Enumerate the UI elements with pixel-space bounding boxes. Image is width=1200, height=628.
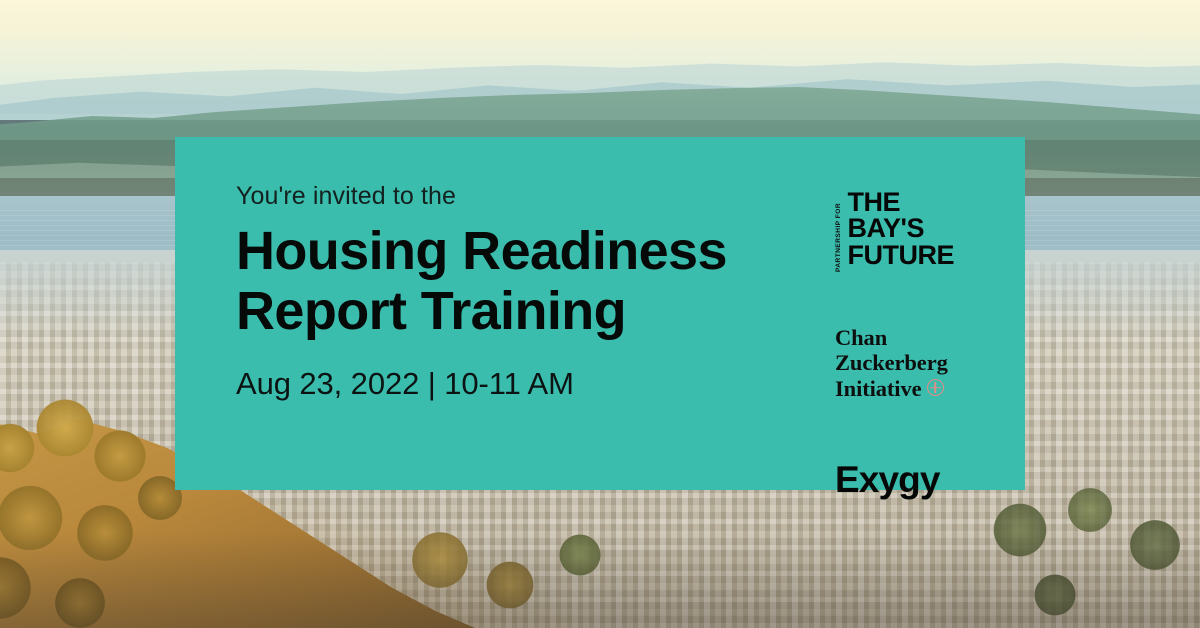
logo-chan-zuckerberg-initiative: Chan Zuckerberg Initiative: [835, 299, 1015, 427]
partner-logo-stack: PARTNERSHIP FOR THE BAY'S FUTURE Chan Zu…: [835, 189, 1015, 498]
logo-the-bays-future: PARTNERSHIP FOR THE BAY'S FUTURE: [835, 189, 1015, 275]
event-invitation-banner: You're invited to the Housing Readiness …: [0, 0, 1200, 628]
invitation-eyebrow: You're invited to the: [236, 181, 775, 211]
bays-future-wordmark: THE BAY'S FUTURE: [843, 189, 955, 275]
event-title: Housing Readiness Report Training: [236, 221, 775, 342]
czi-wordmark: Chan Zuckerberg: [835, 325, 948, 376]
czi-wordmark-last-line: Initiative: [835, 376, 922, 402]
foreground-rooftops: [0, 532, 1200, 628]
logo-exygy: Exygy: [835, 461, 1015, 498]
bays-future-kicker: PARTNERSHIP FOR: [835, 192, 843, 272]
event-datetime: Aug 23, 2022 | 10-11 AM: [236, 366, 775, 402]
czi-circle-mark-icon: [927, 379, 944, 396]
teal-overlay-panel: You're invited to the Housing Readiness …: [175, 137, 1025, 490]
event-copy-block: You're invited to the Housing Readiness …: [175, 137, 775, 402]
